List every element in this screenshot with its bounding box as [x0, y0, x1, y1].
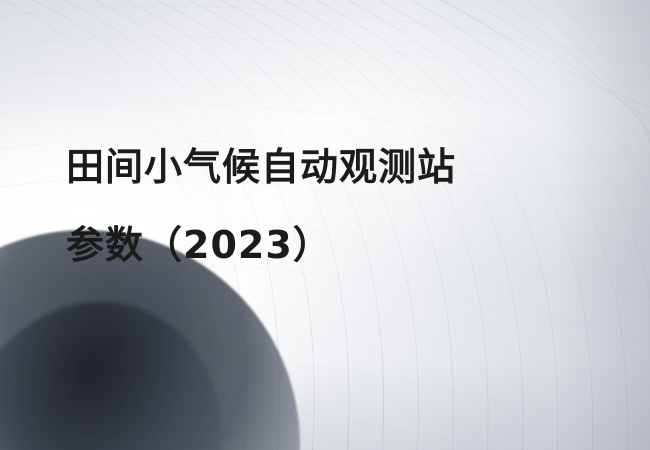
- page-title: 田间小气候自动观测站 参数（2023）: [66, 128, 586, 284]
- title-line-1: 田间小气候自动观测站: [66, 128, 586, 206]
- title-line-2: 参数（2023）: [66, 206, 586, 284]
- banner-image: 田间小气候自动观测站 参数（2023）: [0, 0, 650, 450]
